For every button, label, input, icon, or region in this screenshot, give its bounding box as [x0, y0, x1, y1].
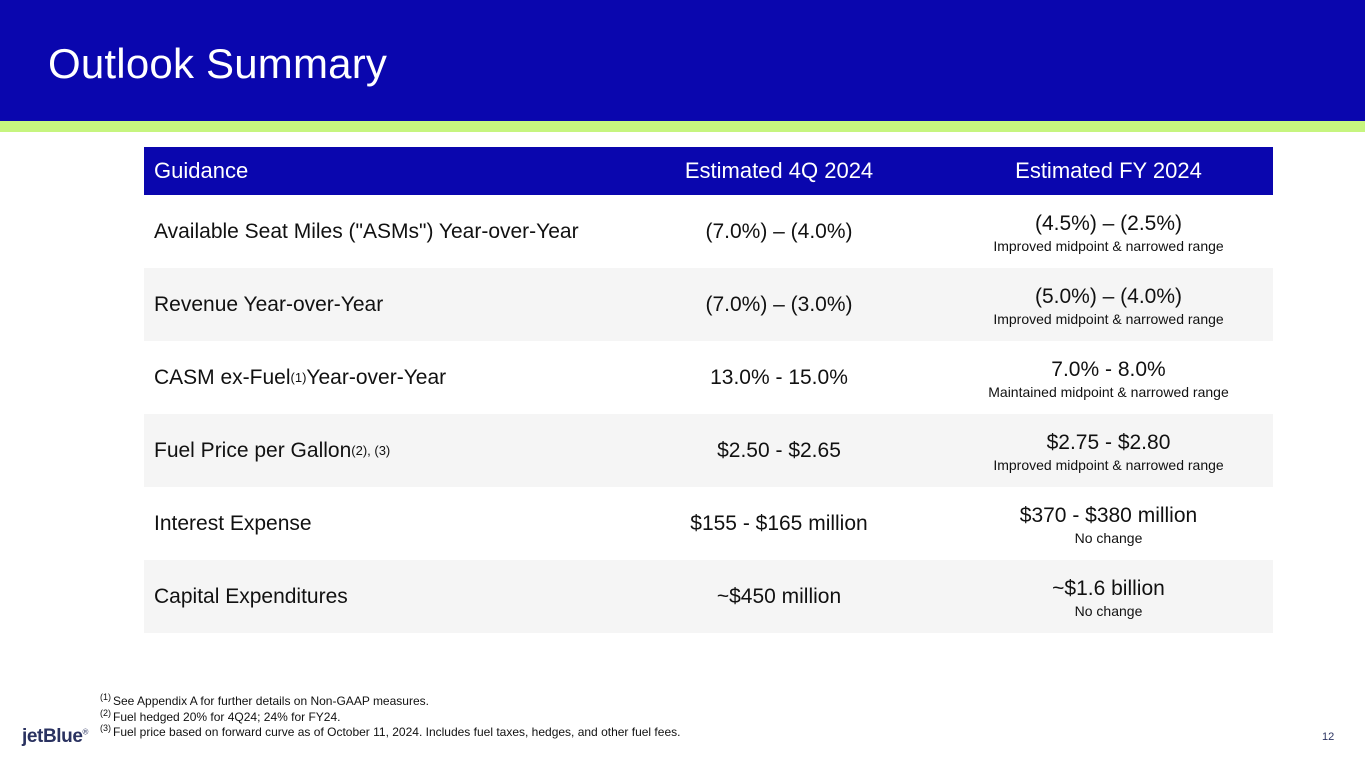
cell-estimated-4q: 13.0% - 15.0% — [614, 341, 944, 414]
jetblue-logo-text: jetBlue — [22, 726, 83, 747]
row-label-text: Interest Expense — [154, 511, 312, 537]
cell-estimated-fy: (4.5%) – (2.5%)Improved midpoint & narro… — [944, 195, 1273, 268]
accent-bar — [0, 121, 1365, 132]
cell-estimated-fy-note: No change — [944, 529, 1273, 547]
row-label: Fuel Price per Gallon(2), (3) — [144, 414, 614, 487]
cell-estimated-fy-value: (4.5%) – (2.5%) — [944, 211, 1273, 237]
cell-estimated-fy-value: 7.0% - 8.0% — [944, 357, 1273, 383]
row-label-text: Revenue Year-over-Year — [154, 292, 383, 318]
footnote-item: (2)Fuel hedged 20% for 4Q24; 24% for FY2… — [100, 710, 1000, 726]
cell-estimated-fy-note: No change — [944, 602, 1273, 620]
row-label-text: Available Seat Miles ("ASMs") Year-over-… — [154, 219, 579, 245]
footnotes: (1)See Appendix A for further details on… — [100, 694, 1000, 741]
page-title: Outlook Summary — [48, 38, 387, 90]
table-row: CASM ex-Fuel(1) Year-over-Year13.0% - 15… — [144, 341, 1273, 414]
row-label-text: Capital Expenditures — [154, 584, 348, 610]
cell-estimated-4q: ~$450 million — [614, 560, 944, 633]
row-label-text: CASM ex-Fuel — [154, 365, 291, 391]
row-label: CASM ex-Fuel(1) Year-over-Year — [144, 341, 614, 414]
footnote-marker: (2) — [100, 708, 111, 718]
row-label: Interest Expense — [144, 487, 614, 560]
footnote-text: Fuel hedged 20% for 4Q24; 24% for FY24. — [113, 710, 340, 724]
cell-estimated-fy-note: Improved midpoint & narrowed range — [944, 237, 1273, 255]
row-label: Revenue Year-over-Year — [144, 268, 614, 341]
footnote-text: See Appendix A for further details on No… — [113, 694, 429, 708]
column-header-estimated-4q: Estimated 4Q 2024 — [614, 158, 944, 184]
cell-estimated-fy-value: (5.0%) – (4.0%) — [944, 284, 1273, 310]
row-label: Available Seat Miles ("ASMs") Year-over-… — [144, 195, 614, 268]
cell-estimated-fy: $370 - $380 millionNo change — [944, 487, 1273, 560]
table-row: Revenue Year-over-Year(7.0%) – (3.0%)(5.… — [144, 268, 1273, 341]
row-label-text: Fuel Price per Gallon — [154, 438, 351, 464]
table-row: Interest Expense$155 - $165 million$370 … — [144, 487, 1273, 560]
jetblue-logo: jetBlue® — [22, 726, 88, 748]
table-row: Available Seat Miles ("ASMs") Year-over-… — [144, 195, 1273, 268]
cell-estimated-fy-value: $2.75 - $2.80 — [944, 430, 1273, 456]
cell-estimated-fy-note: Maintained midpoint & narrowed range — [944, 383, 1273, 401]
title-banner: Outlook Summary — [0, 0, 1365, 121]
cell-estimated-fy: ~$1.6 billionNo change — [944, 560, 1273, 633]
cell-estimated-fy: (5.0%) – (4.0%)Improved midpoint & narro… — [944, 268, 1273, 341]
cell-estimated-4q: (7.0%) – (4.0%) — [614, 195, 944, 268]
cell-estimated-fy-value: ~$1.6 billion — [944, 576, 1273, 602]
cell-estimated-fy: 7.0% - 8.0%Maintained midpoint & narrowe… — [944, 341, 1273, 414]
page-number: 12 — [1322, 731, 1334, 743]
cell-estimated-fy: $2.75 - $2.80Improved midpoint & narrowe… — [944, 414, 1273, 487]
table-body: Available Seat Miles ("ASMs") Year-over-… — [144, 195, 1273, 633]
cell-estimated-4q: (7.0%) – (3.0%) — [614, 268, 944, 341]
footnote-marker: (1) — [100, 692, 111, 702]
footnote-item: (3)Fuel price based on forward curve as … — [100, 725, 1000, 741]
row-label-text-suffix: Year-over-Year — [306, 365, 446, 391]
footnote-item: (1)See Appendix A for further details on… — [100, 694, 1000, 710]
outlook-table: Guidance Estimated 4Q 2024 Estimated FY … — [144, 147, 1273, 633]
column-header-estimated-fy: Estimated FY 2024 — [944, 158, 1273, 184]
cell-estimated-fy-value: $370 - $380 million — [944, 503, 1273, 529]
registered-mark-icon: ® — [83, 728, 89, 737]
cell-estimated-fy-note: Improved midpoint & narrowed range — [944, 310, 1273, 328]
cell-estimated-4q: $155 - $165 million — [614, 487, 944, 560]
table-row: Capital Expenditures~$450 million~$1.6 b… — [144, 560, 1273, 633]
table-row: Fuel Price per Gallon(2), (3)$2.50 - $2.… — [144, 414, 1273, 487]
row-label: Capital Expenditures — [144, 560, 614, 633]
cell-estimated-fy-note: Improved midpoint & narrowed range — [944, 456, 1273, 474]
cell-estimated-4q: $2.50 - $2.65 — [614, 414, 944, 487]
footnote-marker: (3) — [100, 723, 111, 733]
column-header-guidance: Guidance — [144, 158, 614, 184]
footnote-text: Fuel price based on forward curve as of … — [113, 725, 680, 739]
table-header-row: Guidance Estimated 4Q 2024 Estimated FY … — [144, 147, 1273, 195]
